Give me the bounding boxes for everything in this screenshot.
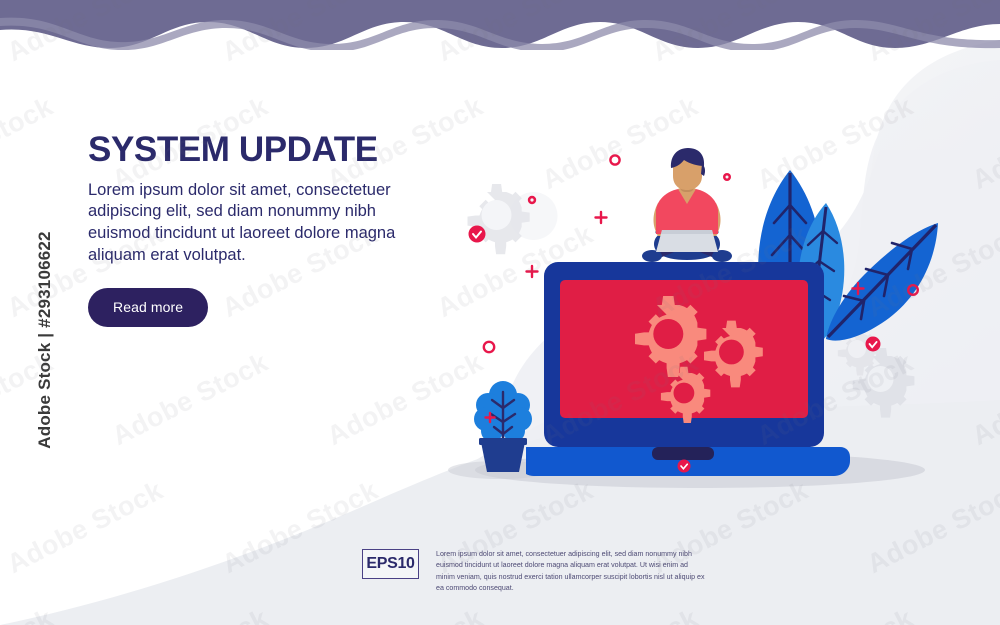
plus-mark-4 [486,413,495,422]
dot-mark-2 [723,173,731,181]
plus-mark-3 [853,283,864,294]
dot-mark-1 [528,196,536,204]
check-badge-1 [469,226,486,243]
illustration-canvas: SYSTEM UPDATE Lorem ipsum dolor sit amet… [0,0,1000,625]
read-more-button[interactable]: Read more [88,288,208,327]
check-badge-2 [866,337,881,352]
plus-mark-1 [596,212,607,223]
eps10-badge: EPS10 [362,549,419,579]
ring-mark-2 [484,342,494,352]
check-badge-3 [678,460,691,473]
watermark-vertical: Adobe Stock | #293106622 [35,210,55,470]
